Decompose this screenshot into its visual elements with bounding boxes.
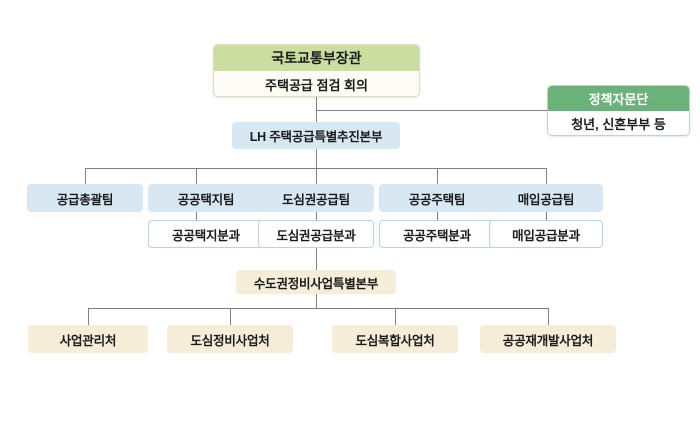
advisory-card[interactable]: 정책자문단 청년, 신혼부부 등 [547,85,690,136]
advisory-title: 정책자문단 [548,86,689,111]
node-office-4[interactable]: 공공재개발사업처 [480,325,616,353]
connector-office-drop-1 [88,308,89,325]
connector-hq-drop [316,149,317,168]
node-subdivision-2[interactable]: 도심권공급분과 [258,220,374,248]
node-second-headquarters[interactable]: 수도권정비사업특별본부 [236,270,396,294]
node-office-1[interactable]: 사업관리처 [28,325,148,353]
org-chart-canvas: 국토교통부장관 주택공급 점검 회의 정책자문단 청년, 신혼부부 등 LH 주… [0,0,700,444]
node-team-2[interactable]: 공공택지팀 [148,184,264,212]
connector-sub-drop-2 [316,212,317,220]
connector-second-hq-drop [316,294,317,308]
node-team-1[interactable]: 공급총괄팀 [27,184,143,212]
connector-minister-to-hq [316,96,317,122]
minister-card[interactable]: 국토교통부장관 주택공급 점검 회의 [213,44,420,97]
advisory-subtitle: 청년, 신혼부부 등 [548,111,689,136]
connector-sub-drop-3 [437,212,438,220]
connector-team-drop-3 [316,168,317,184]
connector-sub-drop-4 [546,212,547,220]
node-team-4[interactable]: 공공주택팀 [379,184,495,212]
connector-team-drop-1 [85,168,86,184]
minister-subtitle: 주택공급 점검 회의 [214,71,419,97]
connector-office-drop-2 [230,308,231,325]
node-office-3[interactable]: 도심복합사업처 [332,325,458,353]
node-subdivision-4[interactable]: 매입공급분과 [489,220,603,248]
connector-trunk-to-advisory [316,110,547,111]
node-subdivision-1[interactable]: 공공택지분과 [148,220,264,248]
node-office-2[interactable]: 도심정비사업처 [167,325,293,353]
node-headquarters[interactable]: LH 주택공급특별추진본부 [232,122,400,149]
connector-to-second-hq [316,248,317,270]
node-team-5[interactable]: 매입공급팀 [489,184,603,212]
minister-title: 국토교통부장관 [214,45,419,71]
connector-sub-drop-1 [196,212,197,220]
connector-office-drop-3 [395,308,396,325]
connector-office-drop-4 [548,308,549,325]
node-team-3[interactable]: 도심권공급팀 [258,184,374,212]
connector-team-drop-5 [546,168,547,184]
node-subdivision-3[interactable]: 공공주택분과 [379,220,495,248]
connector-offices-bus [88,308,548,309]
connector-team-drop-2 [196,168,197,184]
connector-team-drop-4 [437,168,438,184]
